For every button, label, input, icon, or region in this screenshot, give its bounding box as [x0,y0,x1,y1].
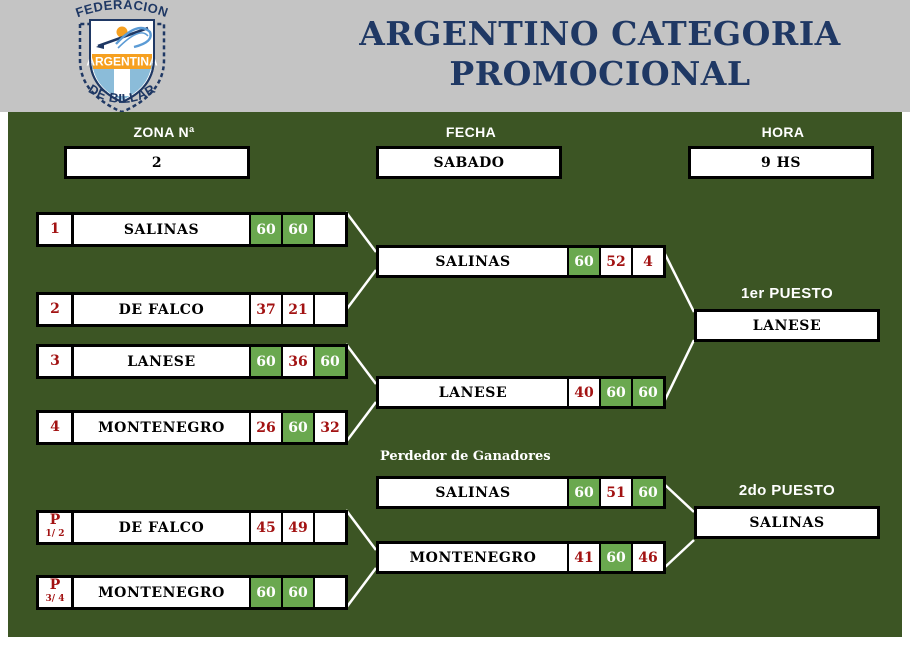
zona-value: 2 [152,155,162,171]
score-cell-2: 52 [599,248,631,275]
fecha-value-box[interactable]: SABADO [376,146,562,179]
losers-bracket-label: Perdedor de Ganadores [380,449,551,464]
first-place-label: 1er PUESTO [694,285,880,302]
score-cell-2: 49 [281,513,313,542]
score-cell-3: 60 [631,379,663,406]
match-row-r1-6[interactable]: P 3/ 4 MONTENEGRO 60 60 [36,575,348,610]
score-cell-1: 45 [249,513,281,542]
score-cell-2: 60 [281,413,313,442]
score-cell-2: 21 [281,295,313,324]
seed-sub: 1/ 2 [46,528,65,541]
seed-main: 3 [50,355,60,368]
bracket-panel: ZONA Nª FECHA HORA 2 SABADO 9 HS 1 SALIN… [8,112,902,637]
match-row-r1-1[interactable]: 1 SALINAS 60 60 [36,212,348,247]
first-place-box[interactable]: LANESE [694,309,880,342]
match-row-losers-1[interactable]: SALINAS 60 51 60 [376,476,666,509]
seed-label: P 3/ 4 [39,578,74,607]
score-cell-3 [313,578,345,607]
seed-main: 2 [50,303,60,316]
score-cell-3 [313,295,345,324]
page-header: ARGENTINA FEDERACION DE BILLAR ARGE [0,0,910,112]
fecha-label: FECHA [376,124,566,140]
score-cell-1: 41 [567,544,599,571]
match-row-r2-1[interactable]: SALINAS 60 52 4 [376,245,666,278]
second-place-box[interactable]: SALINAS [694,506,880,539]
score-cell-2: 60 [599,544,631,571]
score-cell-2: 36 [281,347,313,376]
score-cell-2: 60 [281,578,313,607]
player-name: SALINAS [379,248,567,275]
player-name: MONTENEGRO [379,544,567,571]
match-row-r1-2[interactable]: 2 DE FALCO 37 21 [36,292,348,327]
seed-main: 1 [50,223,60,236]
match-row-r1-5[interactable]: P 1/ 2 DE FALCO 45 49 [36,510,348,545]
seed-main: 4 [50,421,60,434]
seed-main: P [50,514,61,527]
score-cell-1: 60 [567,479,599,506]
seed-label: 3 [39,347,74,376]
score-cell-1: 60 [249,347,281,376]
fecha-value: SABADO [433,155,504,171]
seed-main: P [50,579,61,592]
logo-top-text: FEDERACION [74,0,171,20]
player-name: SALINAS [379,479,567,506]
seed-label: 2 [39,295,74,324]
score-cell-3: 4 [631,248,663,275]
federacion-argentina-de-billar-logo: ARGENTINA FEDERACION DE BILLAR [62,0,182,116]
score-cell-3: 46 [631,544,663,571]
player-name: LANESE [379,379,567,406]
score-cell-3 [313,513,345,542]
page-title-line2: PROMOCIONAL [300,54,900,94]
second-place-label: 2do PUESTO [694,482,880,499]
seed-label: 1 [39,215,74,244]
zona-value-box[interactable]: 2 [64,146,250,179]
score-cell-2: 51 [599,479,631,506]
seed-label: 4 [39,413,74,442]
page-title: ARGENTINO CATEGORIA PROMOCIONAL [300,14,900,94]
seed-sub: 3/ 4 [46,593,65,606]
player-name: DE FALCO [74,295,249,324]
zona-label: ZONA Nª [64,124,264,140]
score-cell-1: 60 [249,215,281,244]
score-cell-2: 60 [281,215,313,244]
second-place-name: SALINAS [749,515,824,531]
score-cell-3: 60 [631,479,663,506]
score-cell-2: 60 [599,379,631,406]
player-name: SALINAS [74,215,249,244]
score-cell-3: 60 [313,347,345,376]
score-cell-1: 60 [249,578,281,607]
score-cell-1: 40 [567,379,599,406]
match-row-losers-2[interactable]: MONTENEGRO 41 60 46 [376,541,666,574]
score-cell-1: 37 [249,295,281,324]
player-name: MONTENEGRO [74,413,249,442]
score-cell-3 [313,215,345,244]
logo-band-text: ARGENTINA [86,55,158,69]
page-title-line1: ARGENTINO CATEGORIA [359,14,841,53]
score-cell-1: 60 [567,248,599,275]
hora-label: HORA [688,124,878,140]
match-row-r2-2[interactable]: LANESE 40 60 60 [376,376,666,409]
match-row-r1-4[interactable]: 4 MONTENEGRO 26 60 32 [36,410,348,445]
score-cell-1: 26 [249,413,281,442]
first-place-name: LANESE [753,318,822,334]
player-name: LANESE [74,347,249,376]
score-cell-3: 32 [313,413,345,442]
player-name: DE FALCO [74,513,249,542]
hora-value: 9 HS [761,155,801,171]
tournament-bracket-page: ARGENTINA FEDERACION DE BILLAR ARGE [0,0,910,645]
hora-value-box[interactable]: 9 HS [688,146,874,179]
match-row-r1-3[interactable]: 3 LANESE 60 36 60 [36,344,348,379]
player-name: MONTENEGRO [74,578,249,607]
seed-label: P 1/ 2 [39,513,74,542]
